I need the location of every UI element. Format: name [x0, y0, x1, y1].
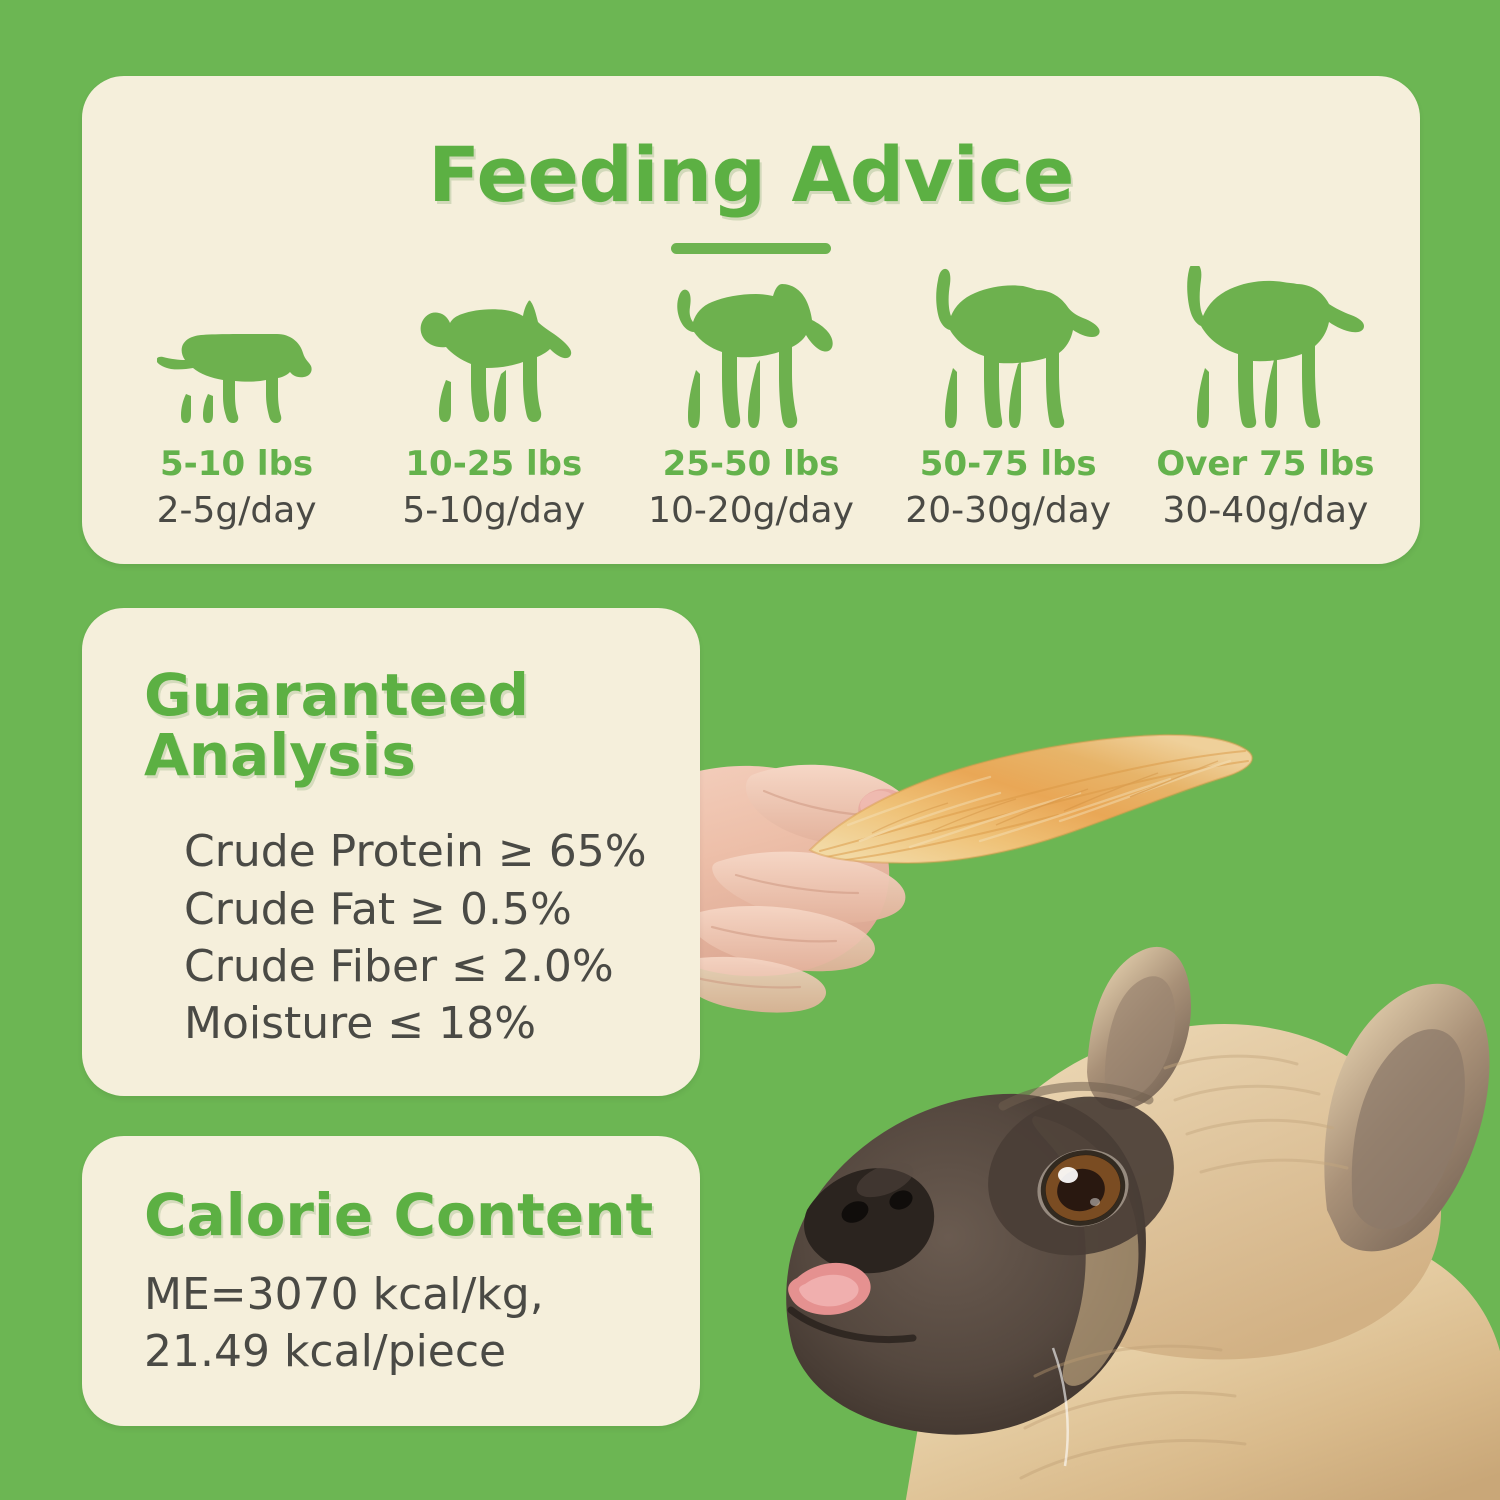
analysis-row: Moisture ≤ 18% — [184, 995, 700, 1052]
guaranteed-analysis-heading: Guaranteed Analysis — [144, 666, 700, 785]
terrier-silhouette-icon — [664, 268, 839, 428]
heading-line-2: Analysis — [144, 726, 700, 786]
heading-line-1: Guaranteed — [144, 666, 700, 726]
french-bulldog-looking-up-photo — [735, 880, 1500, 1500]
feeding-size-column: 10-25 lbs 5-10g/day — [365, 268, 622, 531]
analysis-row: Crude Protein ≥ 65% — [184, 823, 700, 880]
feeding-size-column: Over 75 lbs 30-40g/day — [1137, 268, 1394, 531]
weight-range-label: 50-75 lbs — [920, 444, 1097, 484]
calorie-line-1: ME=3070 kcal/kg, — [144, 1266, 700, 1323]
weight-range-label: 25-50 lbs — [663, 444, 840, 484]
analysis-row: Crude Fiber ≤ 2.0% — [184, 938, 700, 995]
large-dog-silhouette-icon — [1165, 268, 1365, 428]
page-title: Feeding Advice — [82, 130, 1420, 219]
small-dog-silhouette-icon — [411, 268, 576, 428]
feeding-advice-card: Feeding Advice 5-10 lbs 2-5g/day 10-25 l… — [82, 76, 1420, 564]
guaranteed-analysis-card: Guaranteed Analysis Crude Protein ≥ 65% … — [82, 608, 700, 1096]
feeding-size-row: 5-10 lbs 2-5g/day 10-25 lbs 5-10g/day 25… — [82, 268, 1420, 531]
daily-amount-label: 30-40g/day — [1163, 490, 1369, 531]
daily-amount-label: 10-20g/day — [648, 490, 854, 531]
feeding-size-column: 25-50 lbs 10-20g/day — [622, 268, 879, 531]
calorie-content-values: ME=3070 kcal/kg, 21.49 kcal/piece — [144, 1266, 700, 1380]
feeding-size-column: 5-10 lbs 2-5g/day — [108, 268, 365, 531]
title-divider — [671, 243, 831, 254]
feeding-size-column: 50-75 lbs 20-30g/day — [880, 268, 1137, 531]
weight-range-label: 10-25 lbs — [405, 444, 582, 484]
calorie-content-heading: Calorie Content — [144, 1186, 700, 1246]
daily-amount-label: 5-10g/day — [402, 490, 585, 531]
hound-silhouette-icon — [913, 268, 1103, 428]
analysis-row: Crude Fat ≥ 0.5% — [184, 881, 700, 938]
daily-amount-label: 20-30g/day — [905, 490, 1111, 531]
calorie-content-card: Calorie Content ME=3070 kcal/kg, 21.49 k… — [82, 1136, 700, 1426]
weight-range-label: Over 75 lbs — [1156, 444, 1374, 484]
calorie-line-2: 21.49 kcal/piece — [144, 1323, 700, 1380]
guaranteed-analysis-list: Crude Protein ≥ 65% Crude Fat ≥ 0.5% Cru… — [144, 823, 700, 1052]
puppy-silhouette-icon — [157, 268, 317, 428]
daily-amount-label: 2-5g/day — [157, 490, 317, 531]
weight-range-label: 5-10 lbs — [160, 444, 313, 484]
